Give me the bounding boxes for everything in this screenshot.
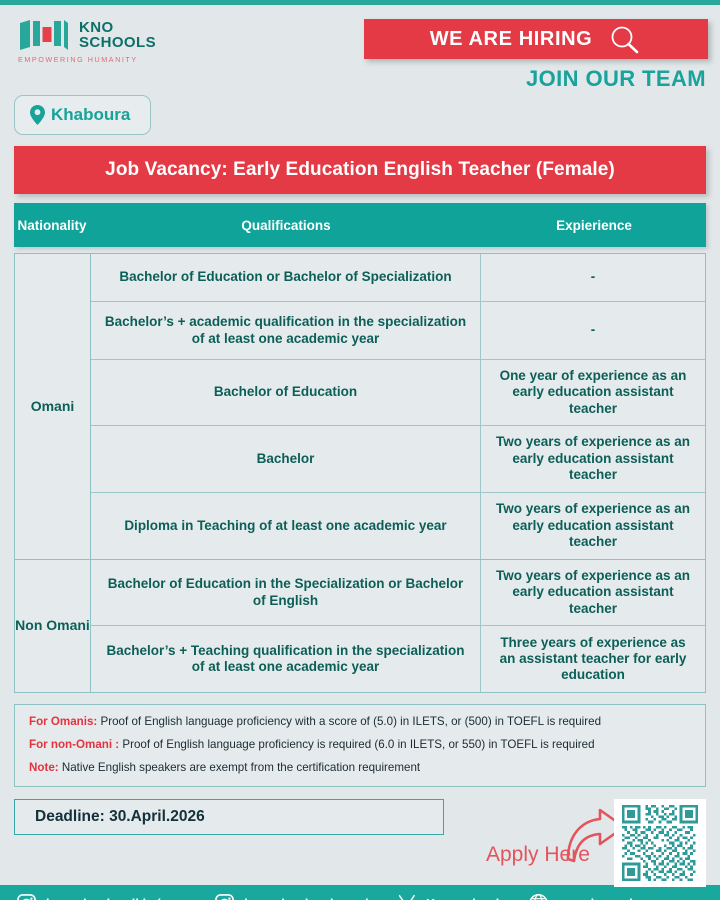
nationality-cell: Non Omani: [15, 560, 91, 692]
experience-cell: Two years of experience as an early educ…: [481, 426, 705, 491]
join-our-team-text: JOIN OUR TEAM: [364, 66, 708, 92]
we-are-hiring-banner: WE ARE HIRING: [364, 19, 708, 59]
magnifier-icon: [608, 24, 642, 54]
logo-text-schools: SCHOOLS: [79, 35, 156, 50]
note-label: For Omanis:: [29, 715, 97, 728]
requirements-table: Omani Bachelor of Education or Bachelor …: [14, 253, 706, 693]
instagram-icon: [214, 893, 235, 900]
table-row: Bachelor of Education or Bachelor of Spe…: [91, 254, 705, 302]
table-header-row: Nationality Qualifications Expierience: [14, 203, 706, 247]
table-group-omani: Omani Bachelor of Education or Bachelor …: [15, 254, 705, 560]
kno-schools-logo: KNO SCHOOLS EMPOWERING HUMANITY: [18, 19, 158, 64]
qualification-cell: Bachelor of Education or Bachelor of Spe…: [91, 254, 481, 301]
job-vacancy-poster: KNO SCHOOLS EMPOWERING HUMANITY WE ARE H…: [0, 0, 720, 900]
qualification-cell: Bachelor’s + Teaching qualification in t…: [91, 626, 481, 692]
note-text: Proof of English language proficiency wi…: [97, 715, 601, 728]
note-omanis: For Omanis: Proof of English language pr…: [29, 715, 691, 729]
footer-instagram-alkhaboura[interactable]: knoschools_alkhaboura: [16, 893, 193, 900]
globe-icon: [528, 893, 549, 900]
table-row: Bachelor’s + academic qualification in t…: [91, 302, 705, 360]
apply-here-label: Apply Here: [486, 843, 590, 867]
footer-website[interactable]: www.kno-edu.com: [528, 893, 671, 900]
table-row: Bachelor of Education One year of experi…: [91, 360, 705, 426]
note-text: Native English speakers are exempt from …: [59, 761, 421, 774]
qualification-cell: Diploma in Teaching of at least one acad…: [91, 493, 481, 559]
note-native-speakers: Note: Native English speakers are exempt…: [29, 761, 691, 775]
note-text: Proof of English language proficiency is…: [119, 738, 594, 751]
nationality-cell: Omani: [15, 254, 91, 559]
deadline-text: Deadline: 30.April.2026: [35, 808, 205, 826]
qualification-cell: Bachelor of Education: [91, 360, 481, 425]
job-title-text: Job Vacancy: Early Education English Tea…: [105, 159, 615, 181]
experience-cell: -: [481, 302, 705, 359]
instagram-icon: [16, 893, 37, 900]
note-label: For non-Omani :: [29, 738, 119, 751]
qualification-cell: Bachelor: [91, 426, 481, 491]
location-row: Khaboura: [0, 93, 720, 135]
table-row: Diploma in Teaching of at least one acad…: [91, 493, 705, 559]
requirements-notes-box: For Omanis: Proof of English language pr…: [14, 704, 706, 787]
column-header-qualifications: Qualifications: [90, 218, 482, 233]
table-row: Bachelor of Education in the Specializat…: [91, 560, 705, 626]
table-group-non-omani: Non Omani Bachelor of Education in the S…: [15, 560, 705, 692]
footer-instagram-alrumais[interactable]: knoschools_alrumais: [214, 893, 376, 900]
experience-cell: One year of experience as an early educa…: [481, 360, 705, 425]
experience-cell: Three years of experience as an assistan…: [481, 626, 705, 692]
deadline-box: Deadline: 30.April.2026: [14, 799, 444, 835]
table-row: Bachelor’s + Teaching qualification in t…: [91, 626, 705, 692]
x-twitter-icon: [397, 894, 417, 900]
poster-header: KNO SCHOOLS EMPOWERING HUMANITY WE ARE H…: [0, 5, 720, 93]
logo-tagline: EMPOWERING HUMANITY: [18, 55, 158, 64]
qr-code-image: [622, 805, 698, 881]
we-are-hiring-text: WE ARE HIRING: [430, 28, 593, 51]
deadline-apply-section: Deadline: 30.April.2026 Apply Here: [14, 799, 706, 885]
location-label: Khaboura: [51, 105, 130, 125]
note-label: Note:: [29, 761, 59, 774]
experience-cell: Two years of experience as an early educ…: [481, 493, 705, 559]
map-pin-icon: [29, 104, 46, 126]
experience-cell: -: [481, 254, 705, 301]
qr-code[interactable]: [614, 799, 706, 887]
job-title-bar: Job Vacancy: Early Education English Tea…: [14, 146, 706, 194]
logo-text-kno: KNO: [79, 20, 156, 35]
open-book-logo-icon: [18, 19, 70, 51]
qualification-cell: Bachelor of Education in the Specializat…: [91, 560, 481, 625]
column-header-experience: Expierience: [482, 218, 706, 233]
qualification-cell: Bachelor’s + academic qualification in t…: [91, 302, 481, 359]
footer-x-twitter[interactable]: Kno_schools: [397, 894, 507, 900]
location-chip[interactable]: Khaboura: [14, 95, 151, 135]
table-row: Bachelor Two years of experience as an e…: [91, 426, 705, 492]
column-header-nationality: Nationality: [14, 218, 90, 233]
note-non-omani: For non-Omani : Proof of English languag…: [29, 738, 691, 752]
experience-cell: Two years of experience as an early educ…: [481, 560, 705, 625]
social-footer: knoschools_alkhaboura knoschools_alrumai…: [0, 885, 720, 900]
hiring-block: WE ARE HIRING JOIN OUR TEAM: [364, 19, 708, 92]
